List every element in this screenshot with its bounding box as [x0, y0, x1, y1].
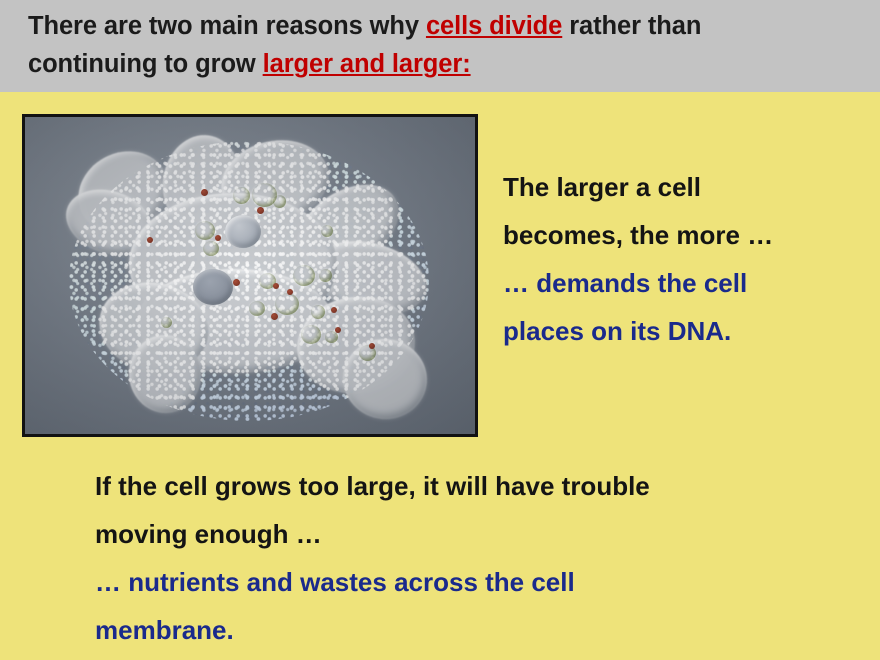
header-highlight-cells-divide: cells divide [426, 12, 562, 40]
header-line-1: There are two main reasons why cells div… [28, 7, 854, 45]
amoeba-photo [22, 114, 478, 437]
bottom-line-1: If the cell grows too large, it will hav… [95, 462, 875, 510]
header-text-part-3: continuing to grow [28, 50, 263, 78]
right-line-1: The larger a cell [503, 163, 875, 211]
right-line-3: … demands the cell [503, 259, 875, 307]
right-text-block: The larger a cell becomes, the more … … … [503, 163, 875, 355]
header-line-2: continuing to grow larger and larger: [28, 45, 854, 83]
bottom-line-4: membrane. [95, 606, 875, 654]
right-line-4: places on its DNA. [503, 307, 875, 355]
header-band: There are two main reasons why cells div… [0, 0, 880, 92]
photo-vignette [25, 117, 475, 434]
header-highlight-larger-and-larger: larger and larger: [263, 50, 471, 78]
bottom-text-block: If the cell grows too large, it will hav… [95, 462, 875, 654]
bottom-line-3: … nutrients and wastes across the cell [95, 558, 875, 606]
slide-canvas: There are two main reasons why cells div… [0, 0, 880, 660]
header-text-part-1: There are two main reasons why [28, 12, 426, 40]
bottom-line-2: moving enough … [95, 510, 875, 558]
header-text-part-2: rather than [562, 12, 701, 40]
right-line-2: becomes, the more … [503, 211, 875, 259]
